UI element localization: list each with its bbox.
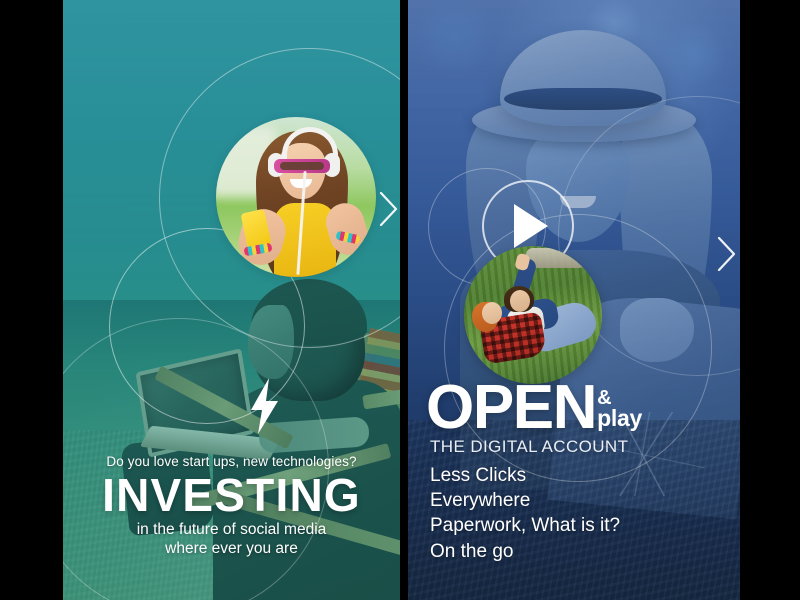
list-item: Paperwork, What is it? (430, 513, 726, 538)
list-item: On the go (430, 539, 726, 564)
screenshot-stage: Do you love start ups, new technologies?… (0, 0, 800, 600)
inset-photo-headphones-woman (216, 117, 376, 277)
slide-subline-1: in the future of social media (77, 521, 386, 539)
slide-headline: INVESTING (77, 472, 386, 519)
list-item: Everywhere (430, 488, 726, 513)
person-head (482, 302, 502, 324)
pink-sunglasses (274, 159, 330, 173)
headline-suffix: & play (597, 389, 642, 434)
slide-subhead: THE DIGITAL ACCOUNT (430, 437, 726, 457)
slide-investing[interactable]: Do you love start ups, new technologies?… (63, 0, 400, 600)
next-slide-chevron-right-icon[interactable] (716, 235, 738, 273)
slide-open-and-play[interactable]: OPEN & play THE DIGITAL ACCOUNT Less Cli… (408, 0, 740, 600)
inset-photo-couple-on-grass (464, 246, 602, 384)
next-slide-chevron-right-icon[interactable] (378, 190, 400, 228)
benefit-list: Less Clicks Everywhere Paperwork, What i… (430, 463, 726, 564)
person-head (510, 290, 530, 312)
slide-text-block: Do you love start ups, new technologies?… (63, 454, 400, 558)
slide-headline: OPEN (426, 381, 596, 434)
lightning-bolt-icon (239, 376, 289, 436)
headline-play: play (597, 408, 642, 430)
list-item: Less Clicks (430, 463, 726, 488)
slide-text-block: OPEN & play THE DIGITAL ACCOUNT Less Cli… (426, 381, 726, 564)
play-button-icon[interactable] (514, 204, 548, 248)
slide-subline-2: where ever you are (77, 540, 386, 558)
headline-row: OPEN & play (426, 381, 726, 434)
